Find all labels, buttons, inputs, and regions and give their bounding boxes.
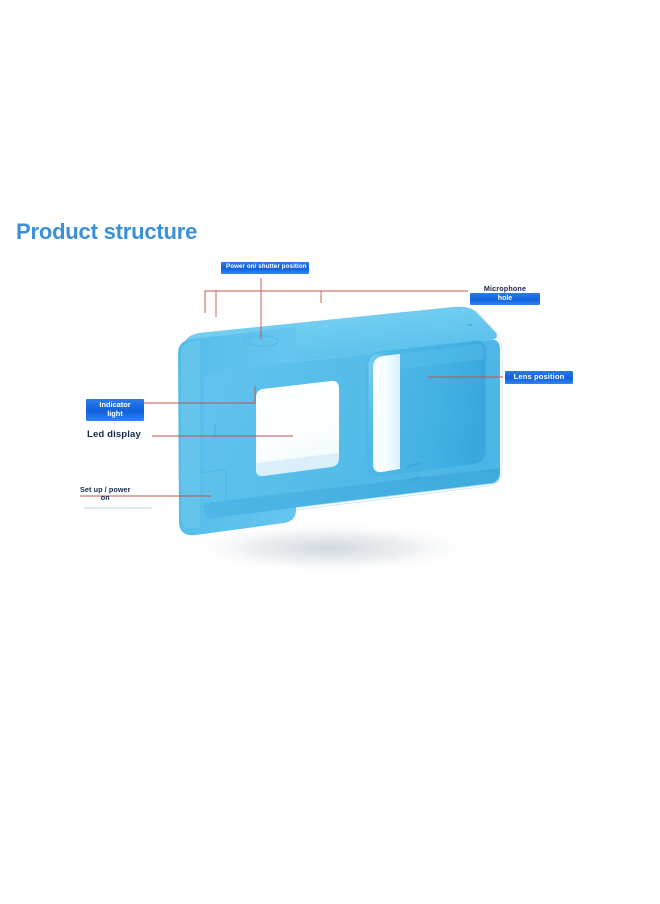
microphone-hole — [467, 324, 472, 326]
callout-indicator-light-label-line2: light — [107, 409, 123, 418]
callout-indicator-light-label: Indicator light — [86, 399, 144, 421]
callout-microphone-hole-label-line1: Microphone — [470, 285, 540, 293]
page-title: Product structure — [16, 219, 197, 245]
callout-lens-position[interactable]: Lens position — [505, 371, 573, 384]
callout-led-display[interactable]: Led display — [87, 430, 141, 440]
lens-inner-lip — [373, 354, 400, 472]
callout-lens-position-label: Lens position — [505, 371, 573, 384]
callout-microphone-hole[interactable]: Microphone hole — [470, 285, 540, 305]
callout-power-shutter-label: Power on/ shutter position — [221, 262, 309, 274]
callout-setup-power-on[interactable]: Set up / power on — [80, 486, 131, 502]
callout-setup-power-on-label-line2: on — [80, 494, 131, 502]
case-left-highlight — [181, 340, 200, 528]
shutter-button-inner — [249, 338, 273, 345]
callout-indicator-light-label-line1: Indicator — [99, 400, 130, 409]
callout-indicator-light[interactable]: Indicator light — [86, 399, 144, 421]
callout-led-display-label: Led display — [87, 430, 141, 440]
callout-microphone-hole-label-line2: hole — [470, 293, 540, 305]
callout-power-shutter[interactable]: Power on/ shutter position — [221, 262, 309, 274]
